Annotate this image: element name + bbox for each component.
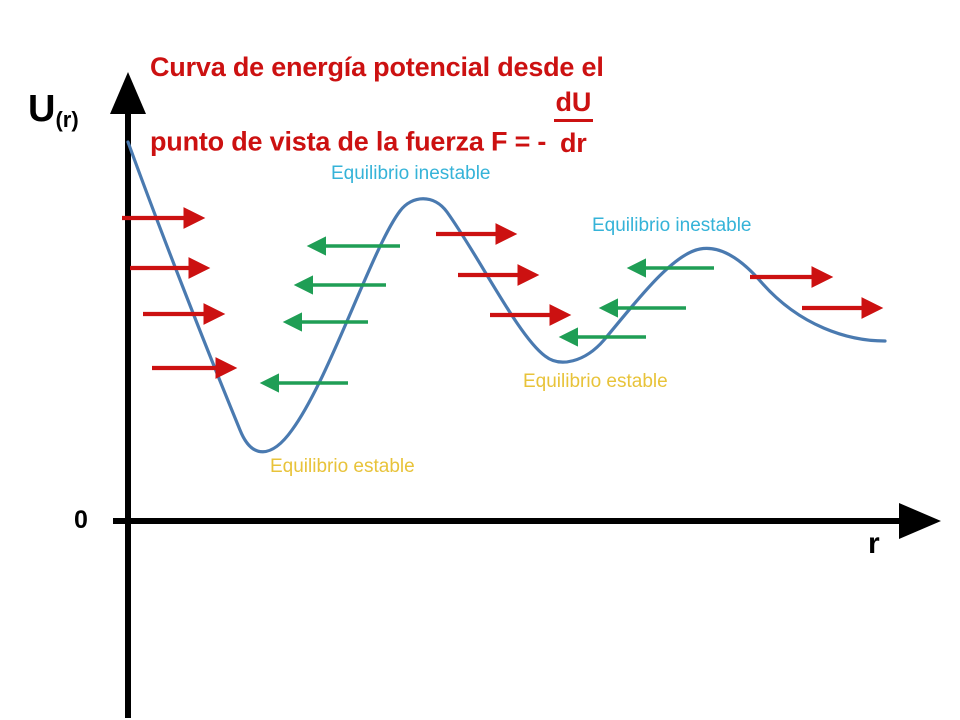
force-arrows-left-group-1 xyxy=(277,246,400,383)
x-axis-label: r xyxy=(868,527,880,561)
fraction-numerator: dU xyxy=(554,86,594,122)
force-arrows-left-group-2 xyxy=(576,268,714,337)
potential-energy-diagram: Curva de energía potencial desde el punt… xyxy=(0,0,960,720)
y-axis-label-main: U xyxy=(28,88,55,130)
derivative-fraction: dU dr xyxy=(554,86,594,162)
y-axis-label: U(r) xyxy=(28,88,79,141)
label-unstable-equilibrium-1: Equilibrio inestable xyxy=(331,163,491,185)
title-line-1: Curva de energía potencial desde el xyxy=(150,48,770,86)
origin-label: 0 xyxy=(74,506,88,535)
title-formula-prefix: punto de vista de la fuerza F = - xyxy=(150,127,554,157)
potential-energy-curve xyxy=(128,142,885,452)
label-stable-equilibrium-2: Equilibrio estable xyxy=(523,371,668,393)
y-axis-label-subscript: (r) xyxy=(55,107,78,132)
force-arrows-right-group-3 xyxy=(750,277,864,308)
force-arrows-right-group-1 xyxy=(122,218,218,368)
label-stable-equilibrium-1: Equilibrio estable xyxy=(270,456,415,478)
fraction-denominator: dr xyxy=(554,122,594,162)
force-arrows-right-group-2 xyxy=(436,234,552,315)
title-line-2: punto de vista de la fuerza F = - dU dr xyxy=(150,86,770,162)
label-unstable-equilibrium-2: Equilibrio inestable xyxy=(592,215,752,237)
diagram-title: Curva de energía potencial desde el punt… xyxy=(150,48,770,162)
